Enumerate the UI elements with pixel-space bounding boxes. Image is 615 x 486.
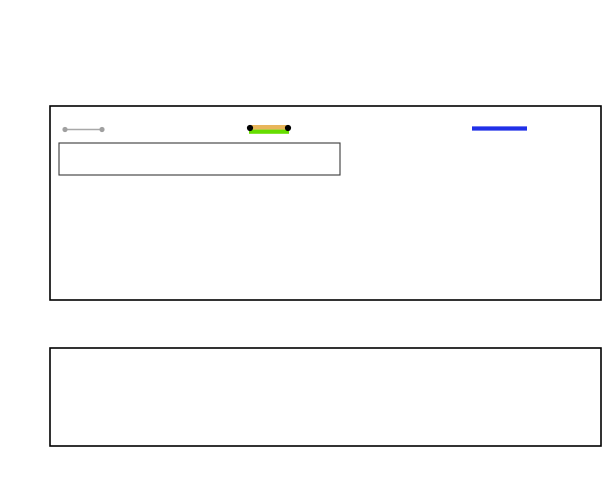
cumulative-precipitation-chart [50, 106, 601, 300]
bottom-plot-frame [50, 348, 601, 446]
ensemble-members-swatch-dot-left [62, 127, 67, 132]
top-plot-frame [50, 106, 601, 300]
ensemble-average-swatch-dot-right [285, 125, 291, 131]
legend-ensemble-average [247, 125, 291, 134]
ensemble-average-swatch-green [249, 130, 289, 134]
ensemble-average-swatch-orange [249, 125, 289, 130]
ensemble-members-swatch-dot-right [99, 127, 104, 132]
crop-percentile-table-frame [59, 143, 340, 175]
daily-precipitation-chart [50, 348, 601, 446]
chart-page [0, 0, 615, 486]
figure-canvas [0, 0, 615, 486]
ensemble-average-swatch-dot-left [247, 125, 253, 131]
crop-percentile-table [59, 143, 340, 175]
